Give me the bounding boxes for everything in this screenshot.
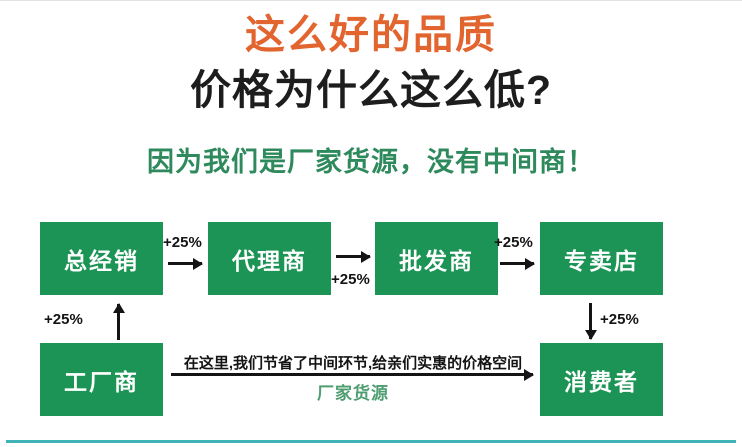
markup-label-agent-to-wholesaler: +25% (331, 271, 370, 288)
flow-node-wholesaler: 批发商 (375, 222, 498, 295)
arrow-wholesaler-to-store (500, 262, 534, 265)
flow-node-specialty-store: 专卖店 (540, 222, 663, 295)
flow-node-label: 代理商 (232, 242, 307, 276)
flow-node-consumer: 消费者 (540, 343, 663, 416)
direct-channel-caption: 在这里,我们节省了中间环节,给亲们实惠的价格空间 (175, 352, 531, 373)
flow-node-label: 总经销 (64, 242, 139, 276)
flow-node-label: 专卖店 (564, 242, 639, 276)
flow-node-label: 批发商 (399, 242, 474, 276)
markup-label-factory-to-distributor: +25% (44, 311, 83, 328)
direct-channel-caption-sub: 厂家货源 (175, 379, 531, 404)
arrow-store-to-consumer (589, 303, 592, 339)
flow-node-agent: 代理商 (208, 222, 331, 295)
arrow-factory-to-distributor (117, 304, 120, 340)
page-title-orange: 这么好的品质 (0, 14, 742, 57)
markup-label-store-to-consumer: +25% (600, 311, 639, 328)
subtitle-green: 因为我们是厂家货源，没有中间商！ (0, 148, 742, 178)
arrow-factory-to-consumer (171, 373, 533, 376)
flow-node-label: 消费者 (564, 363, 639, 397)
markup-label-wholesaler-to-store: +25% (494, 234, 533, 251)
flow-node-general-distributor: 总经销 (40, 222, 163, 295)
top-divider (0, 0, 742, 1)
arrow-agent-to-wholesaler (336, 255, 370, 258)
poster-canvas: 这么好的品质 价格为什么这么低? 因为我们是厂家货源，没有中间商！ 总经销 代理… (0, 0, 742, 447)
arrow-distributor-to-agent (168, 262, 202, 265)
bottom-divider (6, 440, 736, 443)
markup-label-distributor-to-agent: +25% (163, 234, 202, 251)
page-title-black: 价格为什么这么低? (0, 68, 742, 112)
flow-node-label: 工厂商 (64, 363, 139, 397)
flow-node-factory: 工厂商 (40, 343, 163, 416)
